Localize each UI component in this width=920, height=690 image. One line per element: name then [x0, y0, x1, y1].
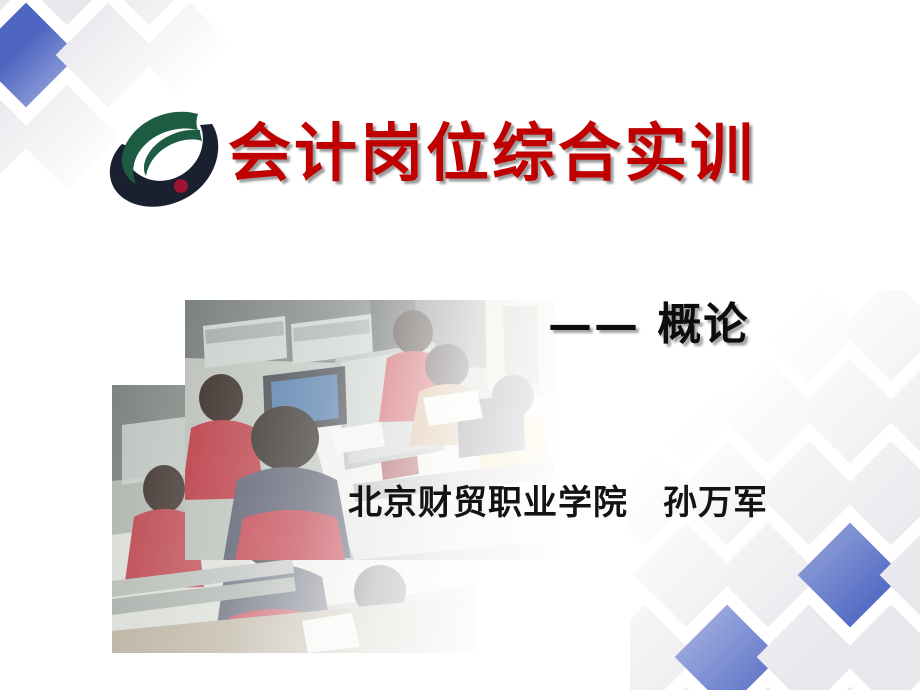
- slide-subtitle: —— 概论: [548, 288, 749, 352]
- swoosh-logo-icon: [104, 100, 230, 218]
- diamond-tile: [716, 359, 821, 464]
- diamond-tile: [634, 359, 739, 464]
- diamond-tile: [56, 3, 161, 108]
- diamond-tile: [757, 441, 862, 546]
- diamond-tile: [138, 3, 243, 108]
- diamond-tile-accent: [675, 605, 780, 690]
- diamond-tile: [0, 0, 37, 25]
- logo-red-dot: [174, 179, 188, 193]
- diamond-tile: [839, 605, 920, 690]
- diamond-tile: [757, 277, 862, 382]
- diamond-tile: [839, 277, 920, 382]
- institution-logo: [104, 100, 230, 218]
- diamond-tile: [634, 523, 739, 628]
- diamond-tile: [0, 85, 37, 190]
- diamond-tile: [15, 0, 120, 25]
- diamond-tile: [798, 359, 903, 464]
- presentation-slide: 会计岗位综合实训 —— 概论 北京财贸职业学院 孙万军: [0, 0, 920, 690]
- diamond-tile: [593, 605, 698, 690]
- diamond-tile: [880, 523, 920, 628]
- diamond-tile: [880, 359, 920, 464]
- diamond-tile: [97, 0, 202, 25]
- author-affiliation-line: 北京财贸职业学院 孙万军: [348, 475, 768, 524]
- diamond-tile-accent: [0, 3, 78, 108]
- diamond-tile-accent: [798, 523, 903, 628]
- diamond-tile: [757, 605, 862, 690]
- diamond-tile: [716, 523, 821, 628]
- diamond-tile: [839, 441, 920, 546]
- page-title: 会计岗位综合实训: [228, 120, 756, 186]
